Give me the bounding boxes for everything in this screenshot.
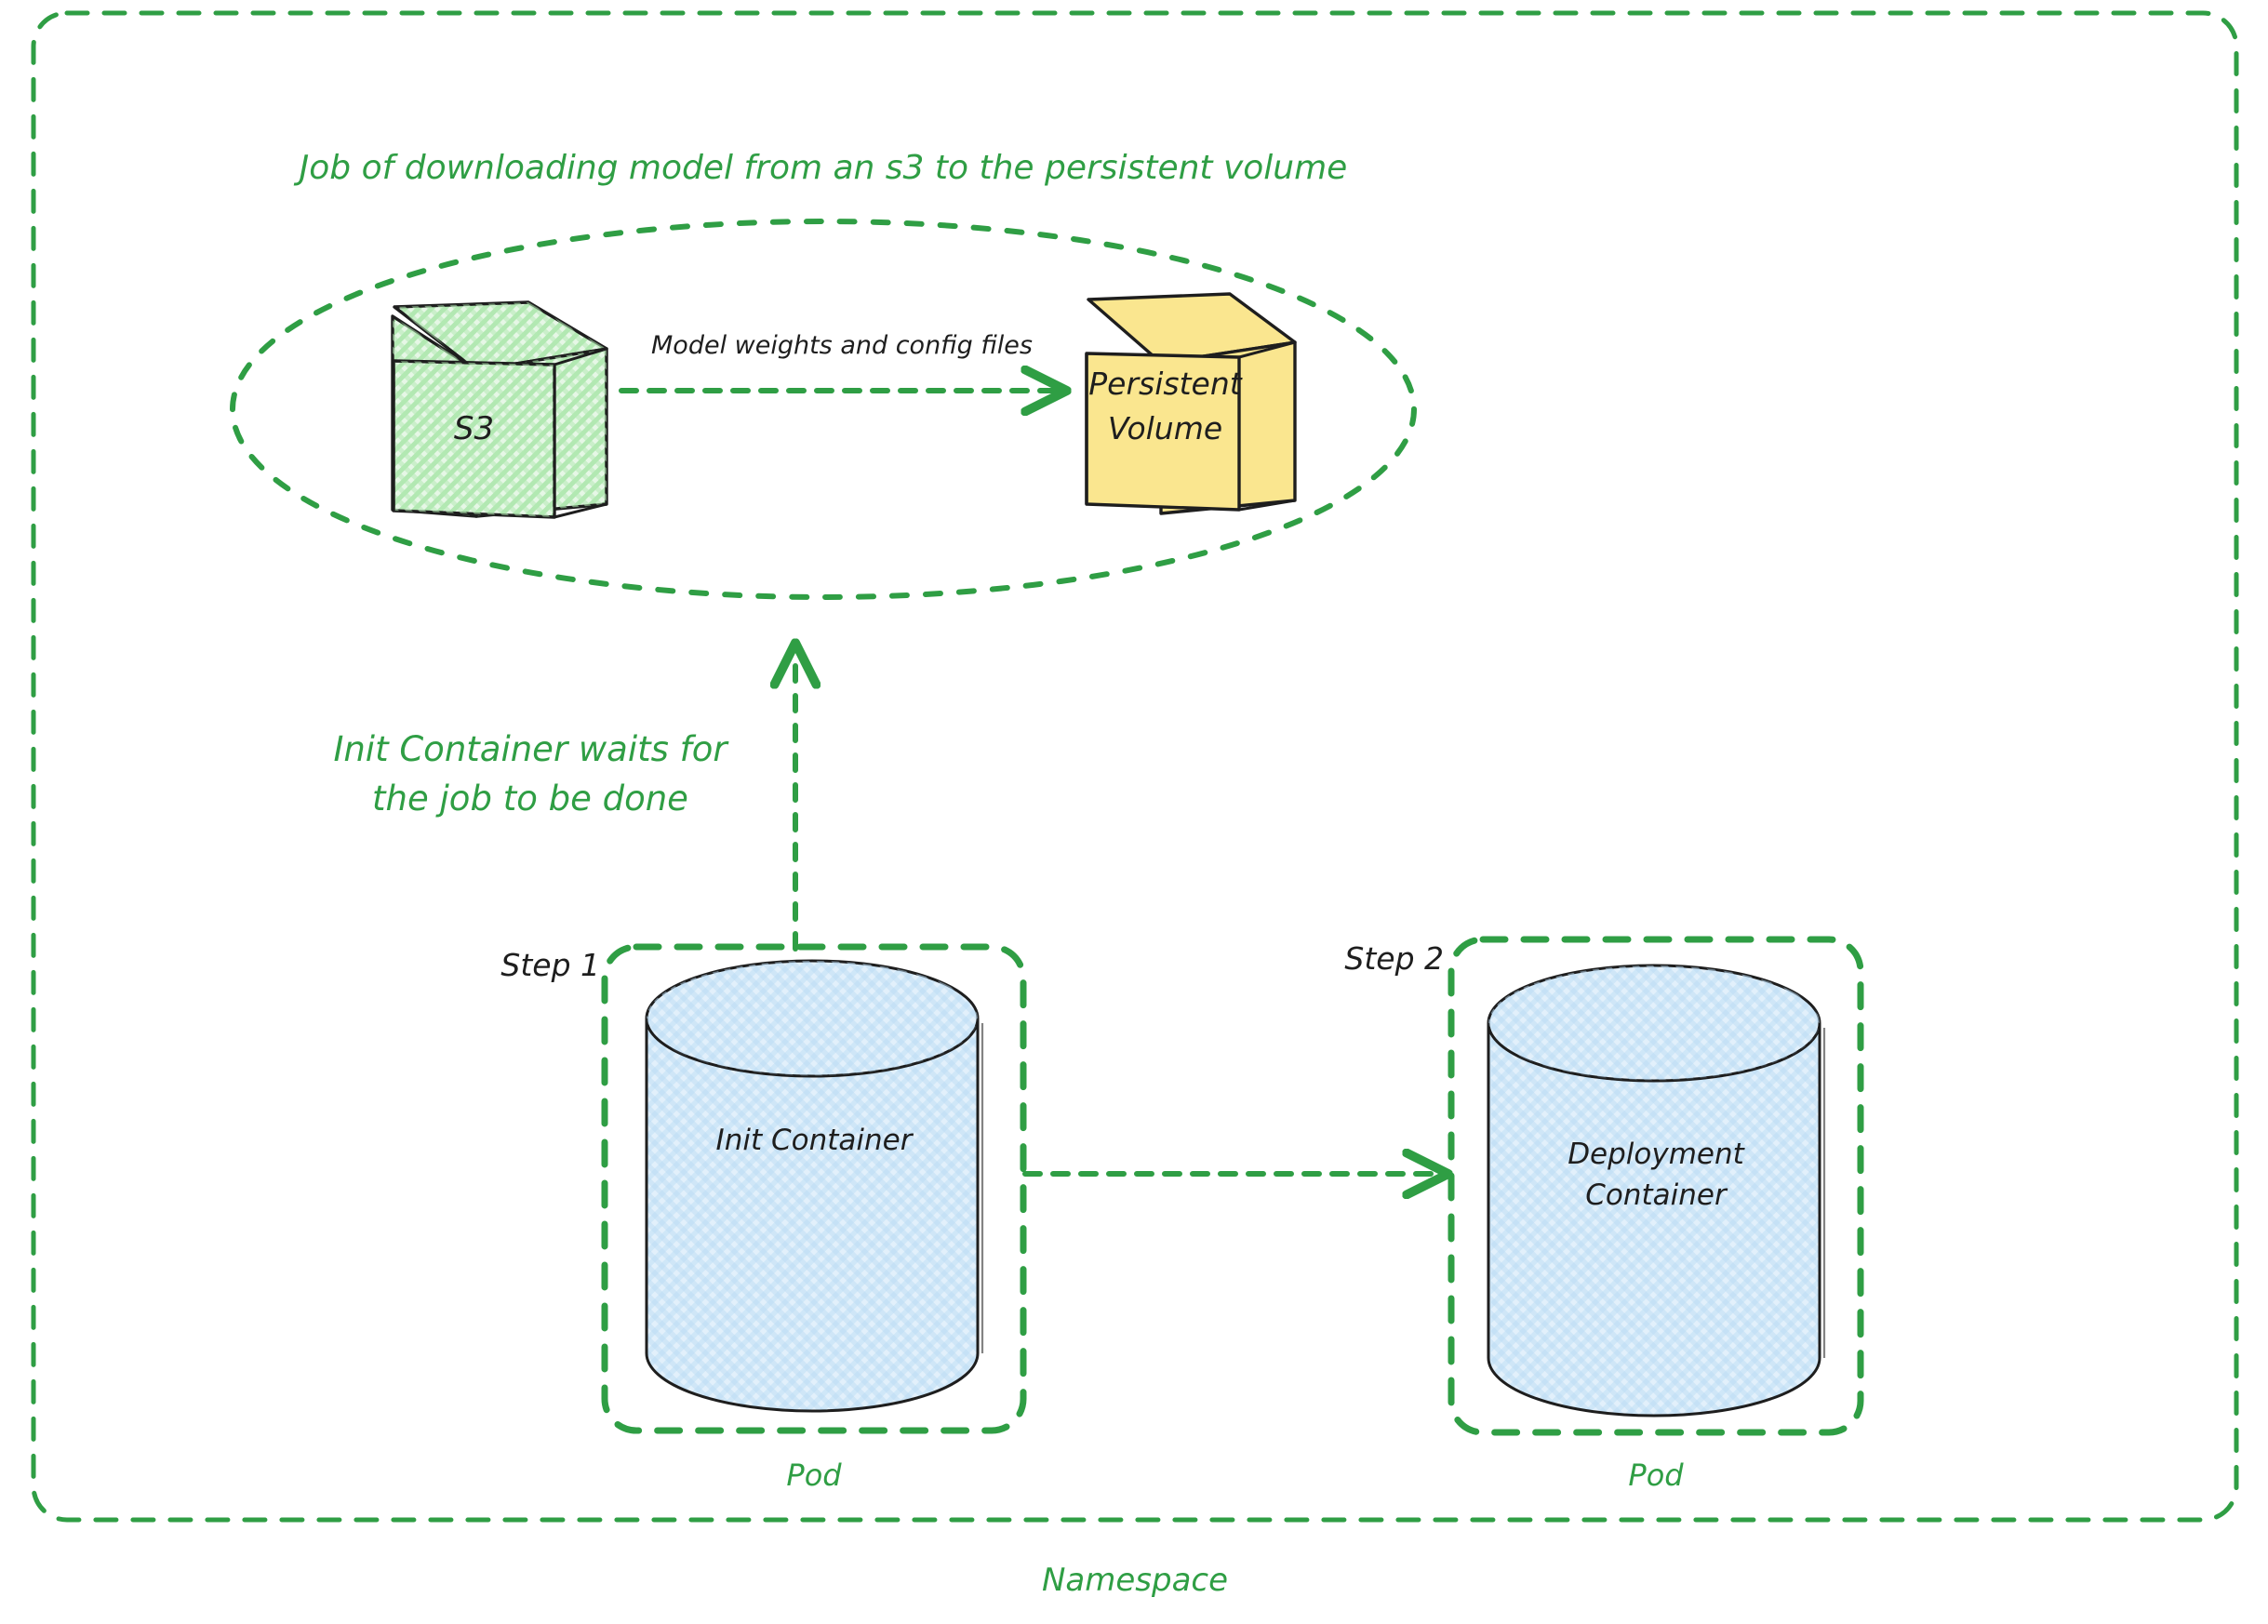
deployment-container-cylinder[interactable] xyxy=(1488,965,1824,1416)
init-container-cylinder[interactable] xyxy=(647,961,982,1411)
namespace-boundary xyxy=(33,13,2236,1520)
diagram-svg xyxy=(0,0,2268,1624)
s3-cube[interactable] xyxy=(393,302,607,517)
diagram-canvas: Job of downloading model from an s3 to t… xyxy=(0,0,2268,1624)
persistent-volume-cube[interactable] xyxy=(1087,294,1295,513)
